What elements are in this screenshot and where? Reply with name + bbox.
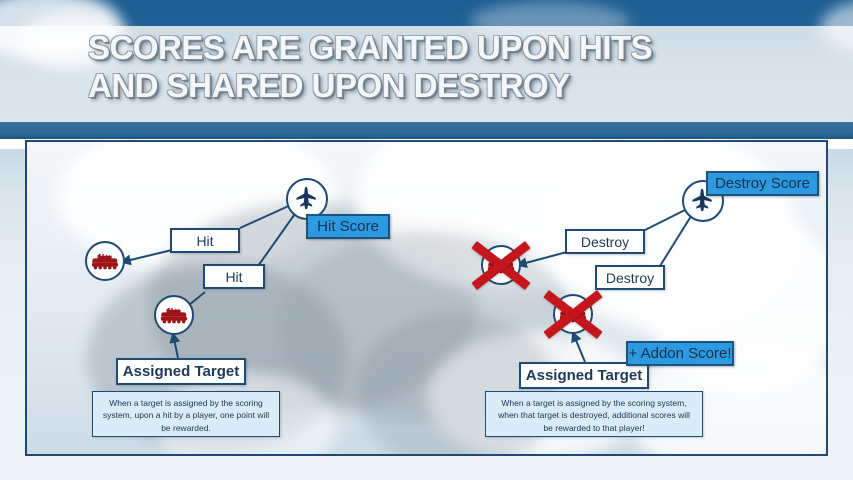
tank-icon [559,304,587,324]
right-score-badge[interactable]: Destroy Score [706,171,819,196]
addon-score-badge[interactable]: + Addon Score! [626,341,734,366]
left-action-label-top[interactable]: Hit [170,228,240,253]
right-action-label-bottom[interactable]: Destroy [595,265,665,290]
left-score-badge[interactable]: Hit Score [306,214,390,239]
page-title-line1: SCORES ARE GRANTED UPON HITS [88,29,788,67]
right-assigned-target-label[interactable]: Assigned Target [519,362,649,389]
right-caption: When a target is assigned by the scoring… [485,391,703,437]
slide: Hit Score Hit Hit [0,0,853,480]
left-assigned-target-label[interactable]: Assigned Target [116,358,246,385]
tank-icon [487,255,515,275]
fighter-jet-icon [293,185,321,213]
left-target-node-top[interactable] [85,241,125,281]
left-target-node-bottom[interactable] [154,295,194,335]
right-target-node-top[interactable] [481,245,521,285]
horizon-band [0,122,853,139]
page-title: SCORES ARE GRANTED UPON HITS AND SHARED … [88,29,788,106]
right-action-label-top[interactable]: Destroy [565,229,645,254]
left-caption: When a target is assigned by the scoring… [92,391,280,437]
tank-icon [160,305,188,325]
right-target-node-bottom[interactable] [553,294,593,334]
page-title-line2: AND SHARED UPON DESTROY [88,67,788,105]
left-action-label-bottom[interactable]: Hit [203,264,265,289]
tank-icon [91,251,119,271]
